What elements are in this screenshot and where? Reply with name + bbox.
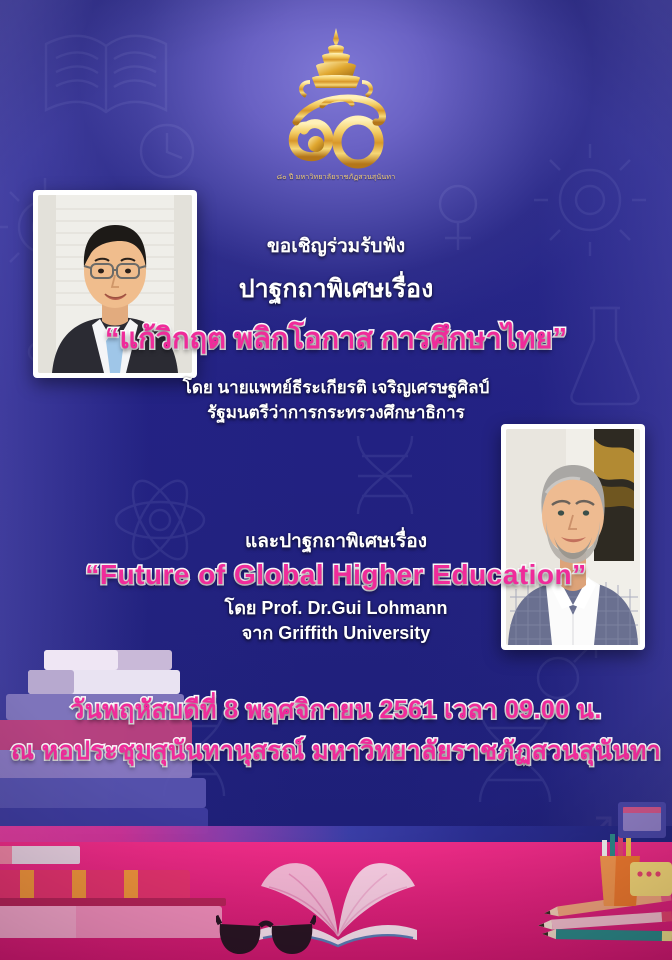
event-poster: ๘๐ ปี มหาวิทยาลัยราชภัฏสวนสุนันทา [0, 0, 672, 960]
poster-vignette [0, 0, 672, 960]
